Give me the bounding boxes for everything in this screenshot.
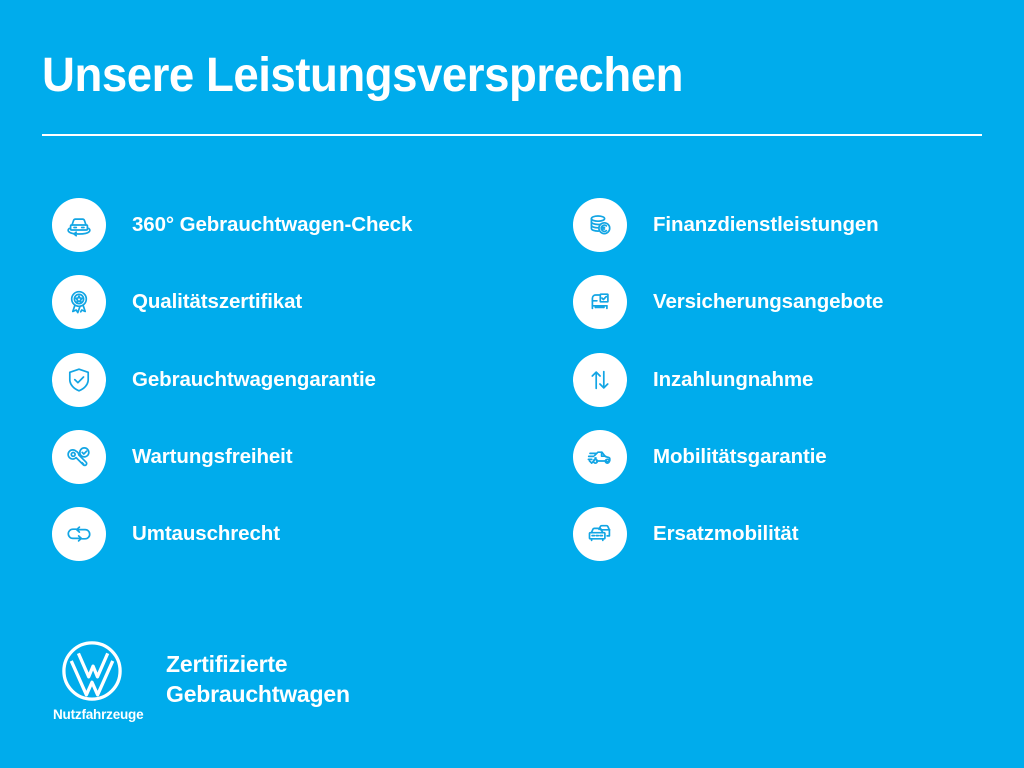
feature-label: Umtauschrecht (132, 507, 280, 561)
wrench-check-icon (52, 430, 106, 484)
feature-item-trade-in[interactable]: Inzahlungnahme (573, 353, 1024, 430)
van-checkbox-icon (573, 275, 627, 329)
feature-item-replacement-mobility[interactable]: Ersatzmobilität (573, 507, 1024, 584)
feature-label: Wartungsfreiheit (132, 430, 293, 484)
brand-footer: Nutzfahrzeuge Zertifizierte Gebrauchtwag… (40, 635, 600, 745)
exchange-arrows-icon (52, 507, 106, 561)
feature-item-mobility-guarantee[interactable]: Mobilitätsgarantie (573, 430, 1024, 507)
feature-label: Inzahlungnahme (653, 353, 813, 407)
feature-label: 360° Gebrauchtwagen-Check (132, 198, 412, 252)
title-divider (42, 134, 982, 136)
car-360-check-icon (52, 198, 106, 252)
slide-root: Unsere Leistungsversprechen 360° Gebrauc… (0, 0, 1024, 768)
two-cars-icon (573, 507, 627, 561)
brand-claim-line2: Gebrauchtwagen (166, 679, 350, 709)
brand-logo: Nutzfahrzeuge (57, 640, 127, 722)
car-speed-icon (573, 430, 627, 484)
feature-label: Ersatzmobilität (653, 507, 798, 561)
coins-euro-icon (573, 198, 627, 252)
feature-item-warranty[interactable]: Gebrauchtwagengarantie (52, 353, 512, 430)
feature-label: Gebrauchtwagengarantie (132, 353, 376, 407)
feature-label: Versicherungsangebote (653, 275, 883, 329)
feature-label: Qualitätszertifikat (132, 275, 302, 329)
feature-item-maintenance-free[interactable]: Wartungsfreiheit (52, 430, 512, 507)
feature-item-360-check[interactable]: 360° Gebrauchtwagen-Check (52, 198, 512, 275)
feature-item-quality-certificate[interactable]: Qualitätszertifikat (52, 275, 512, 352)
up-down-arrows-icon (573, 353, 627, 407)
volkswagen-logo-icon (61, 640, 123, 702)
feature-item-insurance-offers[interactable]: Versicherungsangebote (573, 275, 1024, 352)
feature-item-financial-services[interactable]: Finanzdienstleistungen (573, 198, 1024, 275)
brand-claim-line1: Zertifizierte (166, 649, 350, 679)
feature-label: Mobilitätsgarantie (653, 430, 827, 484)
brand-subline: Nutzfahrzeuge (53, 707, 123, 722)
feature-column-left: 360° Gebrauchtwagen-Check Qualitätszerti… (52, 198, 512, 584)
shield-check-icon (52, 353, 106, 407)
award-rosette-icon (52, 275, 106, 329)
feature-column-right: Finanzdienstleistungen (573, 198, 1024, 584)
page-title: Unsere Leistungsversprechen (42, 50, 683, 103)
feature-label: Finanzdienstleistungen (653, 198, 879, 252)
feature-item-right-of-return[interactable]: Umtauschrecht (52, 507, 512, 584)
brand-claim: Zertifizierte Gebrauchtwagen (166, 649, 350, 709)
